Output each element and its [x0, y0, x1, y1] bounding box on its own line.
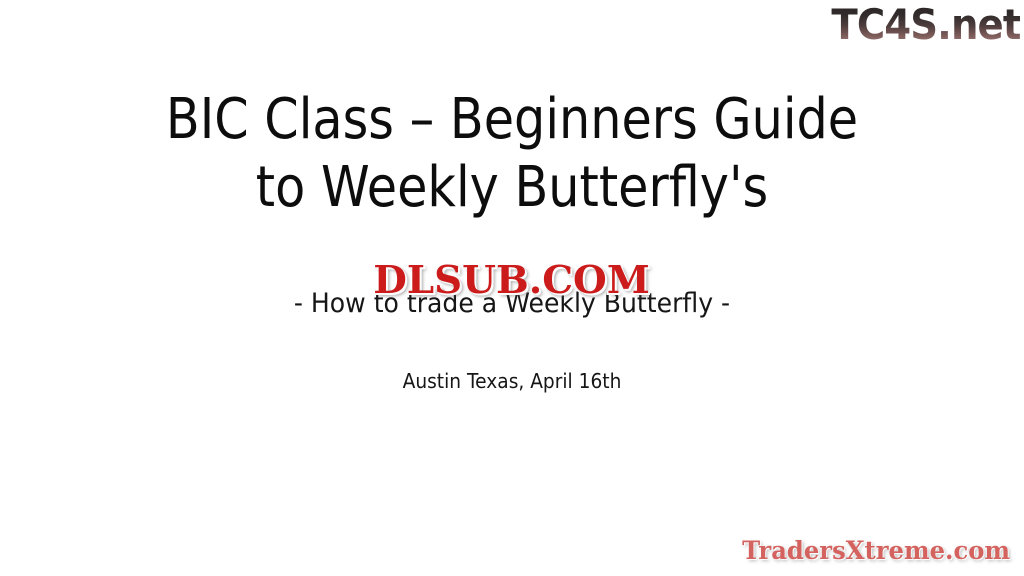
slide-title-line-1: BIC Class – Beginners Guide [61, 86, 962, 154]
slide-title-line-2: to Weekly Butterfly's [61, 154, 962, 222]
bottom-right-watermark: TradersXtreme.com [0, 536, 1024, 566]
slide-title: BIC Class – Beginners Guide to Weekly Bu… [0, 86, 1024, 222]
slide-venue-date: Austin Texas, April 16th [36, 368, 988, 394]
bottom-right-watermark-text: TradersXtreme.com [742, 536, 1010, 566]
slide-subtitle: - How to trade a Weekly Butterfly - [36, 288, 988, 320]
tc4s-logo: TC4S.net [828, 0, 1020, 50]
tc4s-logo-text: TC4S.net [831, 4, 1020, 46]
presentation-slide: TC4S.net BIC Class – Beginners Guide to … [0, 0, 1024, 576]
